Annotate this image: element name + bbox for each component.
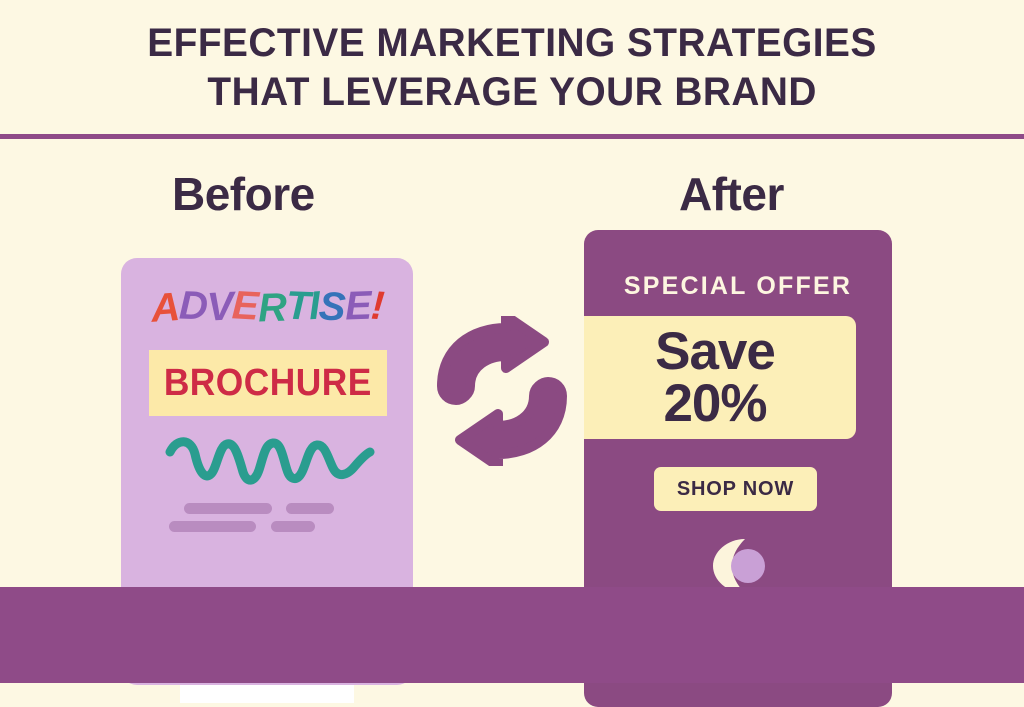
monitor-stand [180,685,354,703]
placeholder-line [184,503,272,514]
squiggle-decoration [165,430,375,496]
placeholder-line-row-1 [184,503,334,514]
placeholder-line [271,521,315,532]
brochure-label: BROCHURE [164,362,372,405]
placeholder-line [286,503,334,514]
save-offer-band: Save 20% [584,316,856,439]
page-title-line-1: EFFECTIVE MARKETING STRATEGIES [147,19,877,68]
placeholder-line [169,521,256,532]
advertise-letter-v: V [206,284,234,330]
advertise-letter-s: S [318,284,346,330]
save-offer-line-1: Save [655,326,775,378]
special-offer-eyebrow: SPECIAL OFFER [584,272,892,301]
shop-now-button[interactable]: SHOP NOW [654,467,817,511]
before-column-label: Before [172,167,315,221]
advertise-letter-d: D [178,284,207,330]
save-offer-line-2: 20% [663,378,766,430]
advertise-headline: ADVERTISE! [121,284,413,329]
advertise-letter-r: R [257,286,286,332]
swap-arrows-icon[interactable] [432,316,572,466]
shop-now-label: SHOP NOW [677,478,794,501]
placeholder-line-row-2 [169,521,315,532]
advertise-letter-exclamation: ! [369,284,384,330]
advertise-letter-e1: E [231,283,259,329]
footer-band [0,587,1024,683]
after-column-label: After [679,167,784,221]
advertise-letter-e2: E [344,284,371,330]
advertise-letter-a: A [149,285,180,332]
page-title-line-2: THAT LEVERAGE YOUR BRAND [207,68,816,117]
comparison-stage: Before After ADVERTISE! BROCHURE SPECIAL… [0,139,1024,587]
advertise-letter-t: T [285,284,310,330]
page-header: EFFECTIVE MARKETING STRATEGIES THAT LEVE… [0,0,1024,136]
brochure-band: BROCHURE [149,350,387,416]
